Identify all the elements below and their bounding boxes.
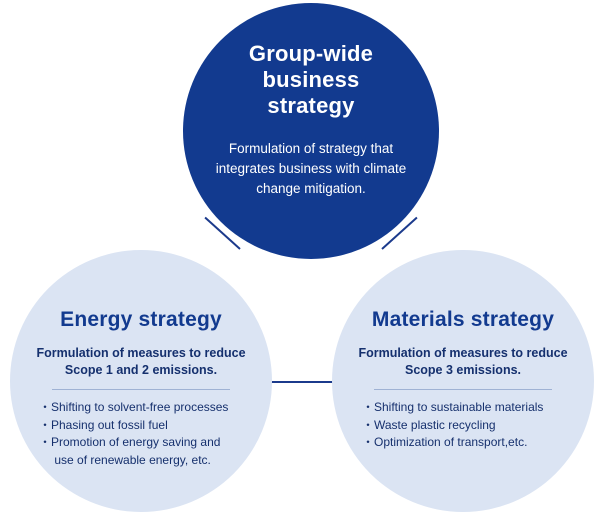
node-group-wide-business-strategy[interactable]: Group-wide business strategy Formulation… <box>183 3 439 259</box>
node-subtitle: Formulation of measures to reduce Scope … <box>348 345 578 379</box>
list-item: ・Waste plastic recycling <box>362 417 578 435</box>
node-subtitle-line-1: Formulation of measures to reduce <box>348 345 578 362</box>
node-energy-strategy[interactable]: Energy strategy Formulation of measures … <box>10 250 272 512</box>
node-subtitle-line-1: Formulation of measures to reduce <box>26 345 256 362</box>
node-subtitle: Formulation of measures to reduce Scope … <box>26 345 256 379</box>
node-bullet-list: ・Shifting to solvent-free processes ・Pha… <box>27 399 255 469</box>
node-subtitle-line-2: Scope 1 and 2 emissions. <box>26 362 256 379</box>
list-item: ・Phasing out fossil fuel <box>39 417 255 435</box>
node-title: Energy strategy <box>60 308 222 332</box>
strategy-venn-diagram: Group-wide business strategy Formulation… <box>0 0 600 514</box>
divider <box>374 389 552 390</box>
node-title-line-2: business <box>249 67 373 93</box>
node-bullet-list: ・Shifting to sustainable materials ・Wast… <box>348 399 578 452</box>
list-item: use of renewable energy, etc. <box>39 452 255 470</box>
node-title-line-3: strategy <box>249 93 373 119</box>
node-title: Group-wide business strategy <box>249 41 373 119</box>
list-item: ・Shifting to sustainable materials <box>362 399 578 417</box>
node-title-line-1: Group-wide <box>249 41 373 67</box>
node-materials-strategy[interactable]: Materials strategy Formulation of measur… <box>332 250 594 512</box>
node-title: Materials strategy <box>372 308 554 332</box>
list-item: ・Optimization of transport,etc. <box>362 434 578 452</box>
node-description: Formulation of strategy that integrates … <box>211 139 411 199</box>
list-item: ・Shifting to solvent-free processes <box>39 399 255 417</box>
node-subtitle-line-2: Scope 3 emissions. <box>348 362 578 379</box>
list-item: ・Promotion of energy saving and <box>39 434 255 452</box>
divider <box>52 389 230 390</box>
